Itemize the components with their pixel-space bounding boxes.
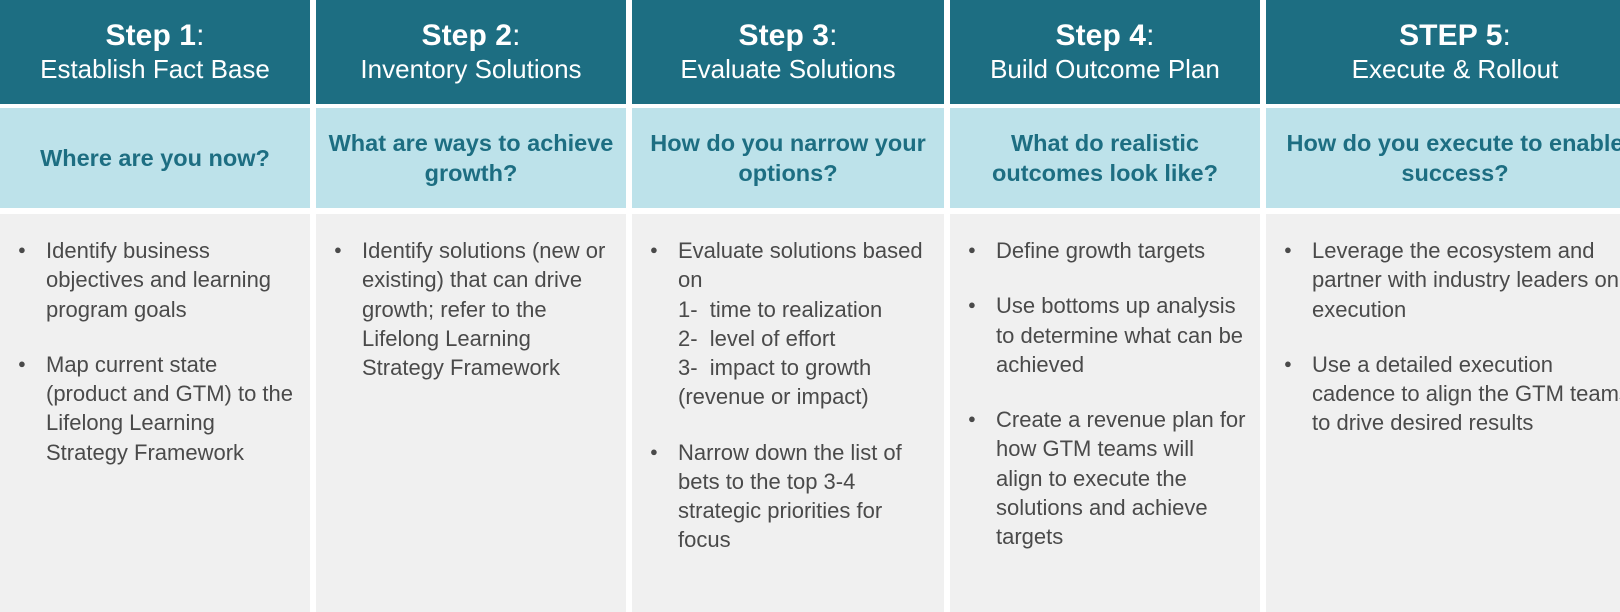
step-header-4: Step 4: Build Outcome Plan: [950, 0, 1260, 104]
step-question-4: What do realistic outcomes look like?: [950, 108, 1260, 208]
step-number-4: Step 4:: [1055, 19, 1154, 53]
sub-list-item: 3- impact to growth: [678, 353, 930, 382]
list-item: Narrow down the list of bets to the top …: [648, 438, 930, 555]
step-header-2: Step 2: Inventory Solutions: [316, 0, 626, 104]
list-item-text: Leverage the ecosystem and partner with …: [1312, 236, 1620, 324]
step-body-3: Evaluate solutions based on1- time to re…: [632, 214, 944, 612]
list-item: Define growth targets: [966, 236, 1246, 265]
step-number-2: Step 2:: [421, 19, 520, 53]
bullet-list-4: Define growth targetsUse bottoms up anal…: [966, 236, 1246, 551]
list-item: Identify solutions (new or existing) tha…: [332, 236, 612, 382]
list-item-text: Define growth targets: [996, 236, 1246, 265]
step-number-5: STEP 5:: [1399, 19, 1511, 53]
list-item: Map current state (product and GTM) to t…: [16, 350, 296, 467]
list-item: Use bottoms up analysis to determine wha…: [966, 291, 1246, 379]
step-question-2: What are ways to achieve growth?: [316, 108, 626, 208]
list-item-text: Narrow down the list of bets to the top …: [678, 438, 930, 555]
step-title-4: Build Outcome Plan: [990, 55, 1220, 84]
step-question-5: How do you execute to enable success?: [1266, 108, 1620, 208]
step-number-3: Step 3:: [738, 19, 837, 53]
step-header-3: Step 3: Evaluate Solutions: [632, 0, 944, 104]
step-body-4: Define growth targetsUse bottoms up anal…: [950, 214, 1260, 612]
list-item-text: Evaluate solutions based on: [678, 236, 930, 295]
list-item-text: Use a detailed execution cadence to alig…: [1312, 350, 1620, 438]
step-body-5: Leverage the ecosystem and partner with …: [1266, 214, 1620, 612]
list-item: Leverage the ecosystem and partner with …: [1282, 236, 1620, 324]
step-header-5: STEP 5: Execute & Rollout: [1266, 0, 1620, 104]
step-title-3: Evaluate Solutions: [680, 55, 895, 84]
list-item-text: Create a revenue plan for how GTM teams …: [996, 405, 1246, 551]
sub-list-item: 1- time to realization: [678, 295, 930, 324]
step-header-1: Step 1: Establish Fact Base: [0, 0, 310, 104]
bullet-list-1: Identify business objectives and learnin…: [16, 236, 296, 467]
list-item: Use a detailed execution cadence to alig…: [1282, 350, 1620, 438]
list-item-text: Identify business objectives and learnin…: [46, 236, 296, 324]
sub-list-item: 2- level of effort: [678, 324, 930, 353]
list-item-text: Use bottoms up analysis to determine wha…: [996, 291, 1246, 379]
step-title-5: Execute & Rollout: [1352, 55, 1559, 84]
bullet-list-3: Evaluate solutions based on1- time to re…: [648, 236, 930, 555]
list-item-text: Identify solutions (new or existing) tha…: [362, 236, 612, 382]
bullet-list-2: Identify solutions (new or existing) tha…: [332, 236, 612, 382]
step-question-1: Where are you now?: [0, 108, 310, 208]
list-item-text: Map current state (product and GTM) to t…: [46, 350, 296, 467]
sub-list: 1- time to realization2- level of effort…: [678, 295, 930, 412]
sub-list-item: (revenue or impact): [678, 382, 930, 411]
step-number-1: Step 1:: [105, 19, 204, 53]
list-item: Identify business objectives and learnin…: [16, 236, 296, 324]
step-body-1: Identify business objectives and learnin…: [0, 214, 310, 612]
list-item: Evaluate solutions based on1- time to re…: [648, 236, 930, 412]
step-body-2: Identify solutions (new or existing) tha…: [316, 214, 626, 612]
step-title-2: Inventory Solutions: [360, 55, 581, 84]
process-steps-board: Step 1: Establish Fact Base Step 2: Inve…: [0, 0, 1620, 612]
bullet-list-5: Leverage the ecosystem and partner with …: [1282, 236, 1620, 438]
step-title-1: Establish Fact Base: [40, 55, 270, 84]
list-item: Create a revenue plan for how GTM teams …: [966, 405, 1246, 551]
step-question-3: How do you narrow your options?: [632, 108, 944, 208]
